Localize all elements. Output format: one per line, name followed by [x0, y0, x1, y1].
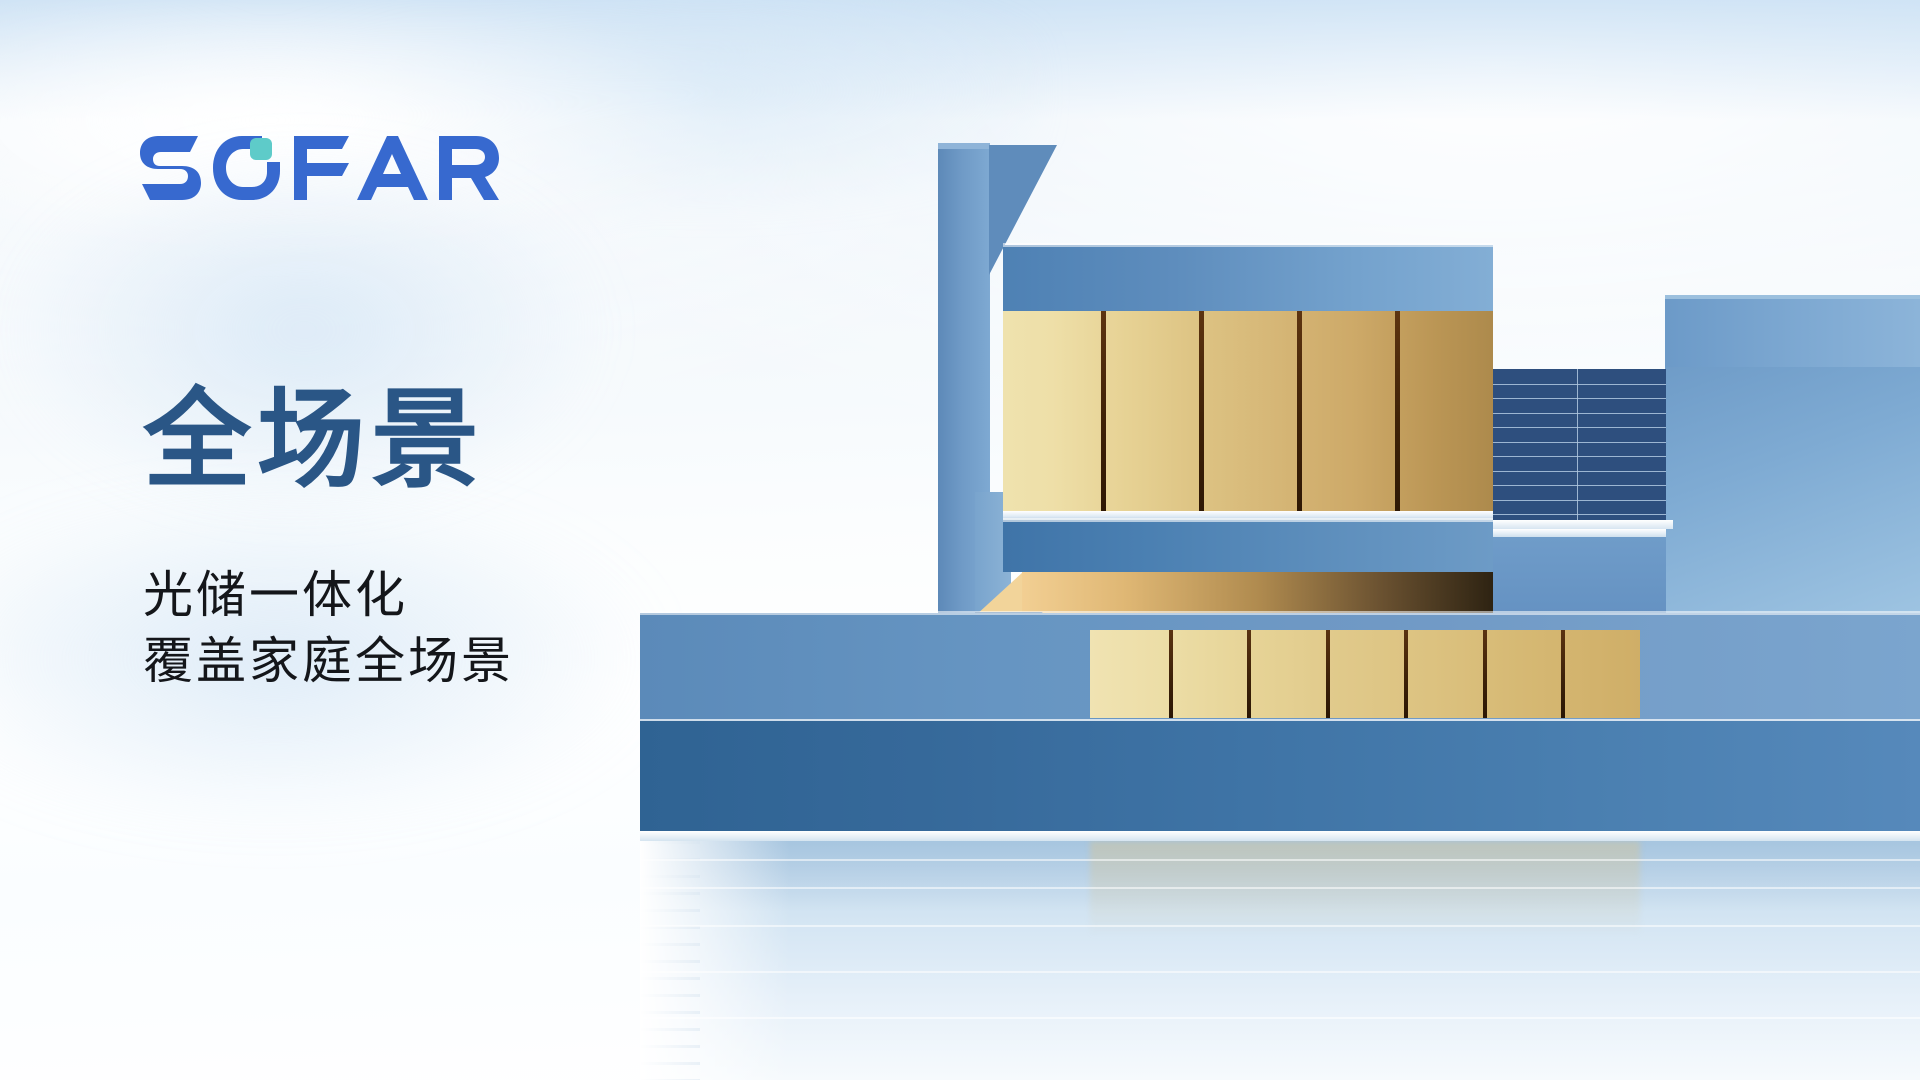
solar-panel-sill [1488, 529, 1666, 537]
window-mullion [1561, 630, 1565, 718]
water-streak [640, 971, 1920, 973]
water-streak [640, 1017, 1920, 1019]
solar-panel-array [1488, 369, 1666, 529]
upper-roof-slab [1003, 245, 1493, 311]
right-wing-body [1665, 367, 1920, 617]
window-mullion [1199, 311, 1204, 511]
subtitle-line-2: 覆盖家庭全场景 [143, 628, 514, 694]
right-wing-roof [1665, 297, 1920, 367]
right-wing-roof-edge [1665, 295, 1920, 299]
hero-banner: 全场景 光储一体化 覆盖家庭全场景 [0, 0, 1920, 1080]
page-title: 全场景 [143, 386, 485, 494]
window-mullion [1326, 630, 1330, 718]
underside-band-bevel [975, 572, 1023, 616]
water-gold-reflection [1090, 841, 1640, 937]
roof-connector-strip [1493, 520, 1673, 529]
vertical-fin-top [938, 143, 990, 149]
window-mullion [1101, 311, 1106, 511]
hero-text-block: 全场景 光储一体化 覆盖家庭全场景 [0, 0, 620, 1080]
window-mullion [1395, 311, 1400, 511]
water-streak [640, 859, 1920, 861]
window-mullion [1404, 630, 1408, 718]
lower-glass-band [1090, 630, 1640, 718]
upper-roof-highlight [1003, 243, 1493, 247]
water-streak [640, 887, 1920, 889]
window-mullion [1247, 630, 1251, 718]
podium-slab-highlight [640, 611, 1920, 615]
water-left-fade [640, 841, 790, 1080]
window-mullion [1297, 311, 1302, 511]
sofar-logo[interactable] [140, 132, 500, 204]
water-reflection [640, 841, 1920, 1080]
logo-letter-a [357, 136, 428, 200]
water-streak [640, 925, 1920, 927]
podium-foot [640, 831, 1920, 841]
logo-letter-f [294, 136, 349, 200]
logo-letter-r [439, 136, 499, 200]
solar-cell-divider [1577, 369, 1578, 529]
page-subtitle: 光储一体化 覆盖家庭全场景 [143, 562, 514, 694]
mid-floor-highlight [1003, 518, 1493, 522]
window-mullion [1169, 630, 1173, 718]
upper-glass-band [1003, 311, 1493, 511]
mid-floor-slab [1003, 520, 1493, 572]
window-mullion [1483, 630, 1487, 718]
underside-shadow-band [1022, 572, 1493, 616]
logo-accent-square [250, 138, 272, 160]
logo-letter-s [140, 136, 201, 200]
subtitle-line-1: 光储一体化 [143, 562, 514, 628]
podium-band [640, 721, 1920, 831]
